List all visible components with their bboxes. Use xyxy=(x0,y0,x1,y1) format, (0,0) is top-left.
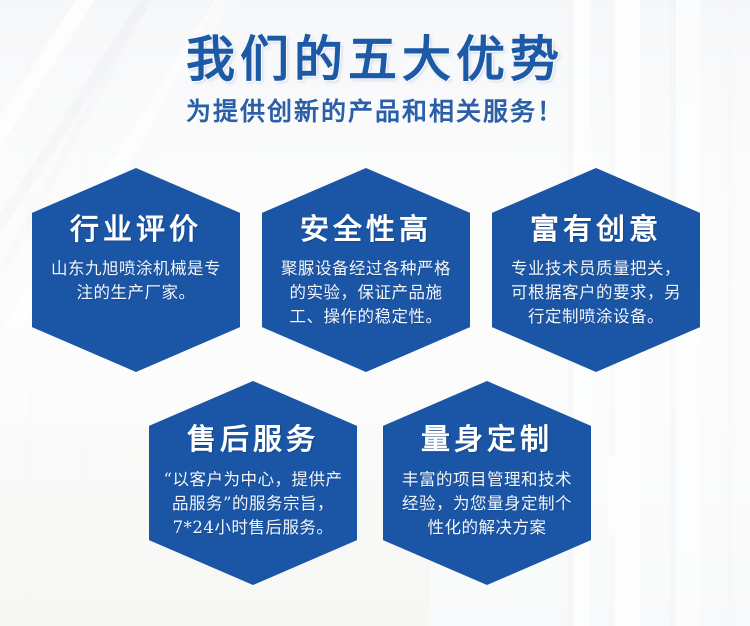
background-window-strip xyxy=(690,435,700,505)
page-title: 我们的五大优势 xyxy=(0,34,750,85)
advantage-body: 专业技术员质量把关，可根据客户的要求，另行定制喷涂设备。 xyxy=(503,257,689,329)
background-window-strip xyxy=(608,455,617,535)
banner-heading: 我们的五大优势 为提供创新的产品和相关服务！ xyxy=(0,34,750,126)
advantage-hexagon-1[interactable]: 行业评价 山东九旭喷涂机械是专注的生产厂家。 xyxy=(32,168,240,372)
advantage-hexagon-5[interactable]: 量身定制 丰富的项目管理和技术经验，为您量身定制个性化的解决方案 xyxy=(383,381,591,585)
advantage-hexagon-4[interactable]: 售后服务 “以客户为中心，提供产品服务”的服务宗旨，7*24小时售后服务。 xyxy=(149,381,357,585)
advantage-title: 富有创意 xyxy=(530,215,662,244)
advantage-title: 量身定制 xyxy=(421,425,553,454)
advantage-title: 安全性高 xyxy=(300,215,432,244)
promo-banner: 我们的五大优势 为提供创新的产品和相关服务！ 行业评价 山东九旭喷涂机械是专注的… xyxy=(0,0,750,626)
advantage-body: 山东九旭喷涂机械是专注的生产厂家。 xyxy=(43,257,229,305)
advantage-body: 丰富的项目管理和技术经验，为您量身定制个性化的解决方案 xyxy=(394,468,580,540)
advantage-body: “以客户为中心，提供产品服务”的服务宗旨，7*24小时售后服务。 xyxy=(160,468,346,540)
advantage-hexagon-3[interactable]: 富有创意 专业技术员质量把关，可根据客户的要求，另行定制喷涂设备。 xyxy=(492,168,700,372)
advantage-body: 聚脲设备经过各种严格的实验，保证产品施工、操作的稳定性。 xyxy=(273,257,459,329)
advantage-title: 行业评价 xyxy=(70,215,202,244)
advantage-title: 售后服务 xyxy=(187,425,319,454)
advantage-hexagon-2[interactable]: 安全性高 聚脲设备经过各种严格的实验，保证产品施工、操作的稳定性。 xyxy=(262,168,470,372)
page-subtitle: 为提供创新的产品和相关服务！ xyxy=(0,98,750,126)
